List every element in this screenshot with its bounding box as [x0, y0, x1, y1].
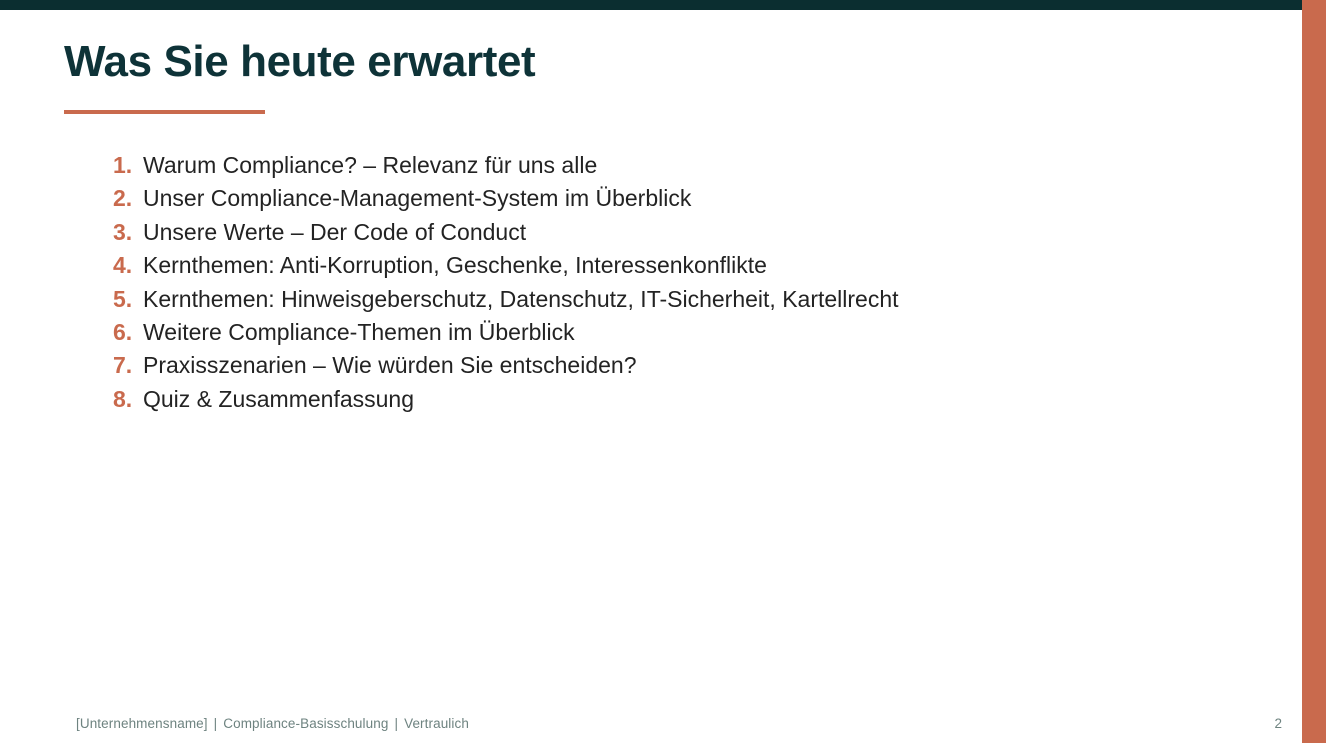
footer-confidentiality-label: Vertraulich	[404, 716, 469, 731]
list-item-label: Weitere Compliance-Themen im Überblick	[143, 319, 575, 346]
list-item-label: Unser Compliance-Management-System im Üb…	[143, 185, 691, 212]
list-item-label: Warum Compliance? – Relevanz für uns all…	[143, 152, 597, 179]
footer-separator: |	[208, 716, 224, 731]
list-item: 5. Kernthemen: Hinweisgeberschutz, Daten…	[113, 286, 1263, 319]
list-item-number: 1.	[113, 152, 143, 179]
list-item-label: Kernthemen: Anti-Korruption, Geschenke, …	[143, 252, 767, 279]
list-item: 4. Kernthemen: Anti-Korruption, Geschenk…	[113, 252, 1263, 285]
page-title: Was Sie heute erwartet	[64, 38, 535, 86]
list-item: 1. Warum Compliance? – Relevanz für uns …	[113, 152, 1263, 185]
list-item: 3. Unsere Werte – Der Code of Conduct	[113, 219, 1263, 252]
right-accent-bar	[1302, 0, 1326, 743]
list-item: 7. Praxisszenarien – Wie würden Sie ents…	[113, 352, 1263, 385]
list-item-number: 3.	[113, 219, 143, 246]
slide-footer: [Unternehmensname] | Compliance-Basissch…	[76, 716, 469, 731]
list-item: 8. Quiz & Zusammenfassung	[113, 386, 1263, 419]
list-item-label: Quiz & Zusammenfassung	[143, 386, 414, 413]
top-accent-bar	[0, 0, 1302, 10]
list-item-number: 6.	[113, 319, 143, 346]
list-item-number: 8.	[113, 386, 143, 413]
footer-separator: |	[388, 716, 404, 731]
footer-company-name: [Unternehmensname]	[76, 716, 208, 731]
title-underline-rule	[64, 110, 265, 114]
list-item-label: Praxisszenarien – Wie würden Sie entsche…	[143, 352, 637, 379]
list-item: 6. Weitere Compliance-Themen im Überblic…	[113, 319, 1263, 352]
list-item-number: 5.	[113, 286, 143, 313]
page-number: 2	[1274, 716, 1282, 731]
list-item-label: Kernthemen: Hinweisgeberschutz, Datensch…	[143, 286, 899, 313]
list-item-number: 4.	[113, 252, 143, 279]
agenda-list: 1. Warum Compliance? – Relevanz für uns …	[113, 152, 1263, 419]
slide-canvas: Was Sie heute erwartet 1. Warum Complian…	[0, 0, 1326, 743]
list-item: 2. Unser Compliance-Management-System im…	[113, 185, 1263, 218]
list-item-label: Unsere Werte – Der Code of Conduct	[143, 219, 526, 246]
footer-document-title: Compliance-Basisschulung	[223, 716, 388, 731]
list-item-number: 7.	[113, 352, 143, 379]
list-item-number: 2.	[113, 185, 143, 212]
